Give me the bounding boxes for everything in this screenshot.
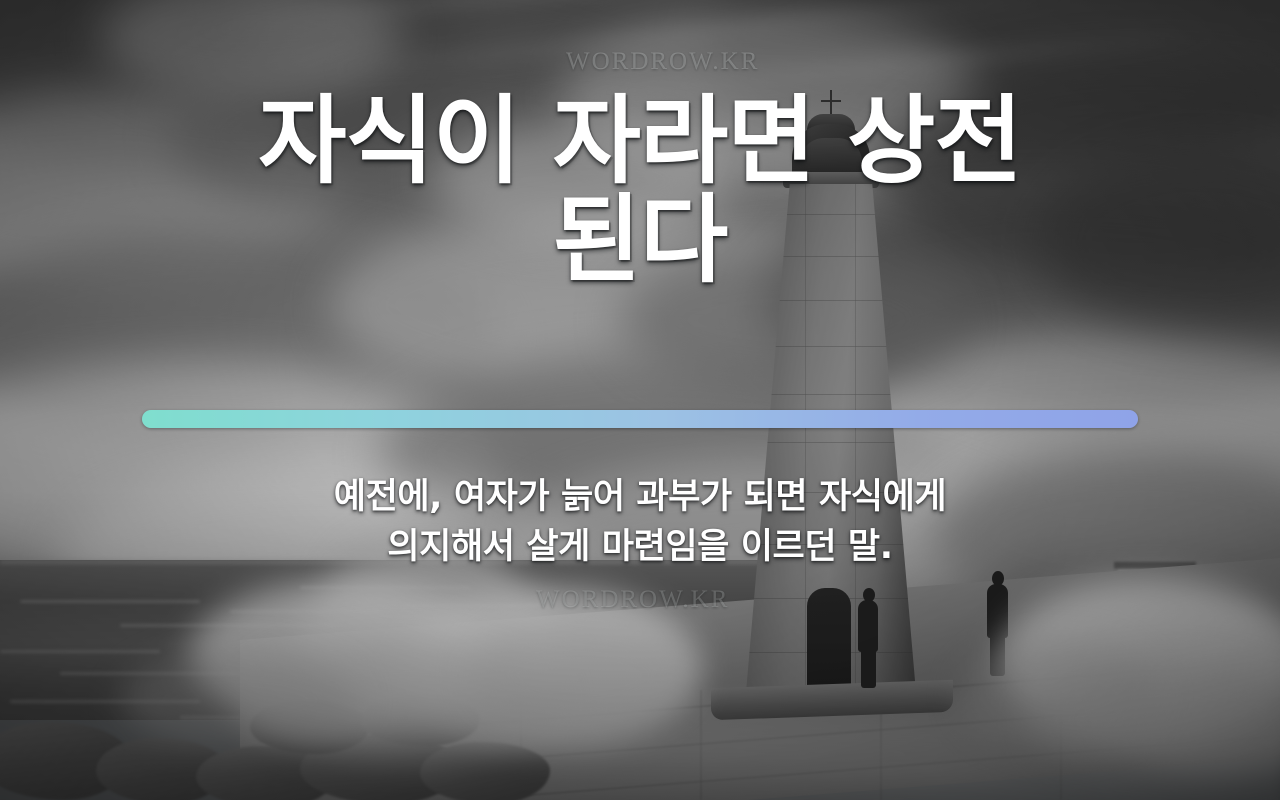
proverb-card: WORDROW.KR WORDROW.KR 자식이 자라면 상전 된다 예전에,…: [0, 0, 1280, 800]
proverb-description: 예전에, 여자가 늙어 과부가 되면 자식에게 의지해서 살게 마련임을 이르던…: [190, 473, 1090, 572]
card-content: 자식이 자라면 상전 된다 예전에, 여자가 늙어 과부가 되면 자식에게 의지…: [0, 0, 1280, 800]
gradient-divider: [142, 410, 1138, 428]
proverb-title: 자식이 자라면 상전 된다: [140, 92, 1140, 290]
